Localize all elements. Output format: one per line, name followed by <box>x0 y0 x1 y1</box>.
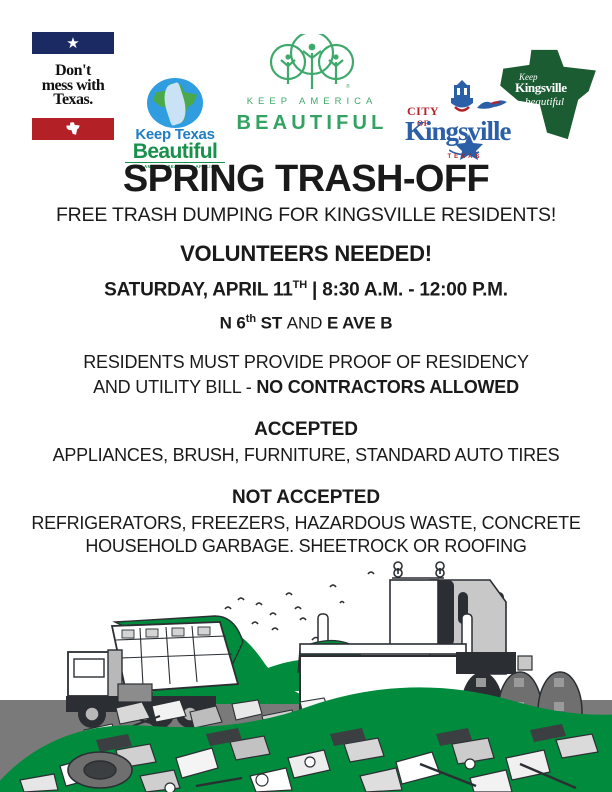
not-accepted-line-1: REFRIGERATORS, FREEZERS, HAZARDOUS WASTE… <box>31 513 580 533</box>
logo-bar: ★ Don't mess with Texas. Keep Texas Beau… <box>0 26 612 156</box>
event-datetime: SATURDAY, APRIL 11TH | 8:30 A.M. - 12:00… <box>0 279 612 301</box>
dmwt-wordmark: Don't mess with Texas. <box>32 54 114 118</box>
globe-icon <box>147 78 203 128</box>
not-accepted-title: NOT ACCEPTED <box>0 487 612 509</box>
no-contractors-notice: NO CONTRACTORS ALLOWED <box>256 377 519 397</box>
logo-dont-mess-with-texas: ★ Don't mess with Texas. <box>32 32 114 140</box>
poster-canvas: ★ Don't mess with Texas. Keep Texas Beau… <box>0 0 612 792</box>
svg-text:®: ® <box>346 83 350 90</box>
proof-line-1: RESIDENTS MUST PROVIDE PROOF OF RESIDENC… <box>83 352 529 372</box>
logo-keep-texas-beautiful: Keep Texas Beautiful KEEP AMERICA BEAUTI… <box>125 78 225 170</box>
location-street-suffix: ST <box>256 313 287 332</box>
volunteers-callout: VOLUNTEERS NEEDED! <box>0 241 612 267</box>
location-street-number: N 6 <box>220 313 246 332</box>
event-time: | 8:30 A.M. - 12:00 P.M. <box>307 280 508 301</box>
proof-requirements: RESIDENTS MUST PROVIDE PROOF OF RESIDENC… <box>0 350 612 399</box>
event-date-prefix: SATURDAY, APRIL 11 <box>104 280 293 301</box>
accepted-title: ACCEPTED <box>0 419 612 441</box>
three-trees-icon: ® <box>232 34 392 92</box>
location-ordinal: th <box>246 313 256 325</box>
accepted-items: APPLIANCES, BRUSH, FURNITURE, STANDARD A… <box>0 444 612 467</box>
landfill-illustration <box>0 552 612 792</box>
kab-line2: BEAUTIFUL <box>232 112 392 135</box>
dmwt-line3: Texas. <box>53 93 93 108</box>
page-title: SPRING TRASH-OFF <box>0 160 612 200</box>
poster-content: SPRING TRASH-OFF FREE TRASH DUMPING FOR … <box>0 160 612 599</box>
water-tower-icon <box>449 80 475 116</box>
location-cross-street: E AVE B <box>322 313 392 332</box>
subheadline: FREE TRASH DUMPING FOR KINGSVILLE RESIDE… <box>0 204 612 227</box>
logo-keep-kingsville-beautiful: Keep Kingsville beautiful <box>495 48 599 148</box>
kab-line1: KEEP AMERICA <box>232 96 392 107</box>
event-location: N 6th ST AND E AVE B <box>0 313 612 334</box>
star-icon: ★ <box>66 36 79 51</box>
proof-line-2-regular: AND UTILITY BILL - <box>93 377 256 397</box>
logo-keep-america-beautiful: ® KEEP AMERICA BEAUTIFUL <box>232 34 392 144</box>
location-conjunction: AND <box>287 313 323 332</box>
event-date-ordinal: TH <box>293 279 307 291</box>
kkb-line3: beautiful <box>525 96 564 108</box>
auto-tire-icon <box>68 752 132 788</box>
kkb-line2: Kingsville <box>515 80 567 96</box>
